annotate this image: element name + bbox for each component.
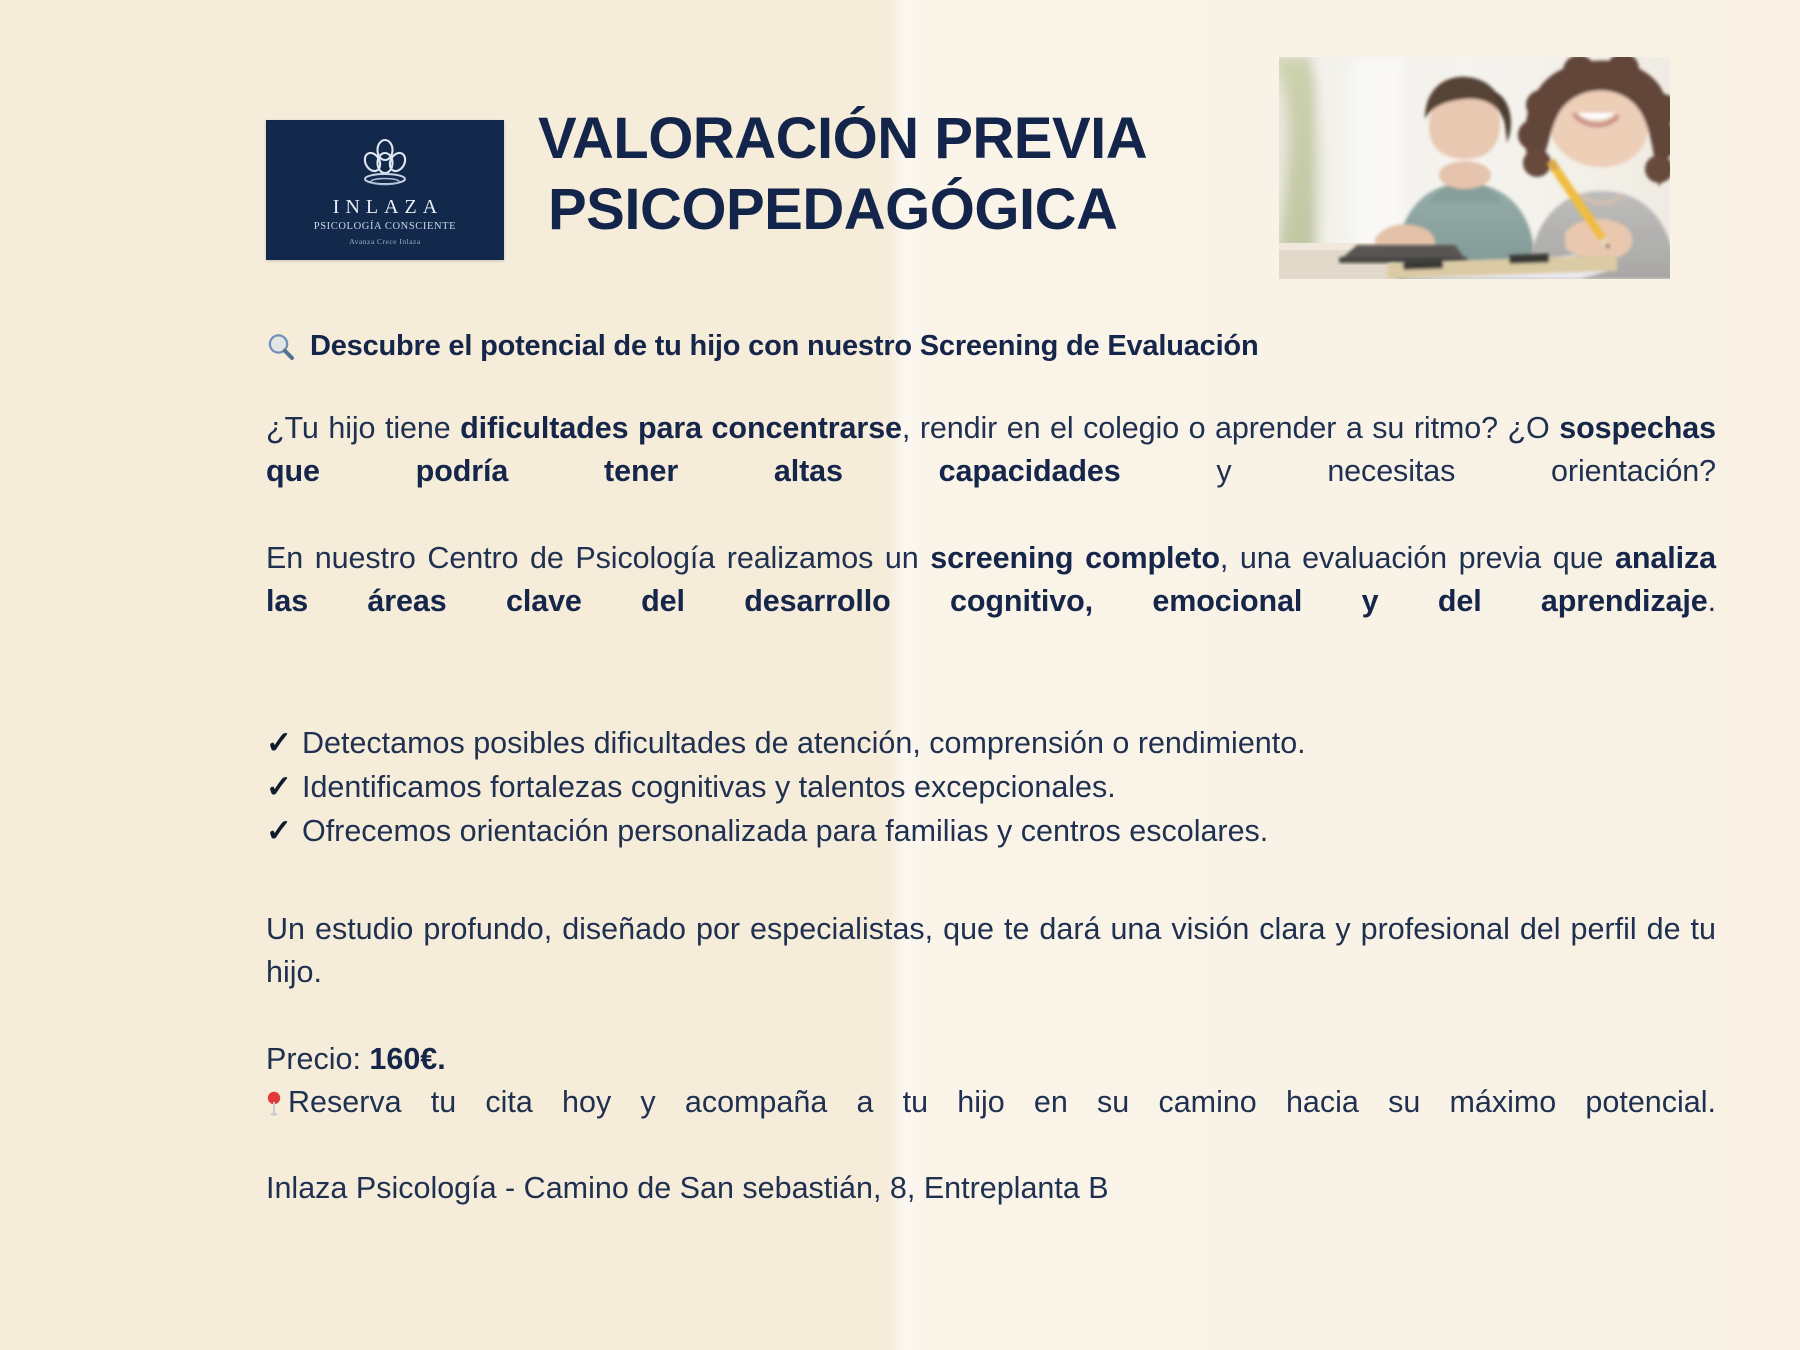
list-item-label: Ofrecemos orientación personalizada para…	[302, 810, 1268, 853]
benefits-checklist: ✓ Detectamos posibles dificultades de at…	[266, 721, 1716, 854]
magnifier-icon	[266, 332, 296, 362]
p2-seg2: , una evaluación previa que	[1220, 541, 1615, 575]
check-icon: ✓	[266, 721, 292, 765]
subheading: Descubre el potencial de tu hijo con nue…	[266, 330, 1716, 363]
list-item: ✓ Ofrecemos orientación personalizada pa…	[266, 809, 1716, 853]
p2-seg1: En nuestro Centro de Psicología realizam…	[266, 541, 930, 575]
location-pin-icon	[266, 1091, 282, 1117]
poster-canvas: INLAZA PSICOLOGÍA CONSCIENTE Avanza Crec…	[0, 0, 1800, 1350]
price-value: 160€.	[369, 1042, 445, 1076]
p2-bold1: screening completo	[930, 541, 1220, 575]
price-line: Precio: 160€.	[266, 1038, 1716, 1081]
cta-line: Reserva tu cita hoy y acompaña a tu hijo…	[266, 1081, 1716, 1168]
subheading-text: Descubre el potencial de tu hijo con nue…	[310, 330, 1258, 363]
p1-seg2: , rendir en el colegio o aprender a su r…	[902, 411, 1559, 445]
poster-body: Descubre el potencial de tu hijo con nue…	[266, 330, 1716, 1211]
logo-tagline: PSICOLOGÍA CONSCIENTE	[314, 221, 456, 233]
logo-name: INLAZA	[327, 196, 443, 218]
p1-seg3: y necesitas orientación?	[1121, 454, 1716, 488]
p1-bold1: dificultades para concentrarse	[460, 411, 902, 445]
list-item-label: Detectamos posibles dificultades de aten…	[302, 722, 1306, 765]
header-photo	[1279, 57, 1670, 279]
p2-seg3: .	[1708, 584, 1716, 618]
page-title: VALORACIÓN PREVIA PSICOPEDAGÓGICA	[530, 104, 1270, 246]
address-line: Inlaza Psicología - Camino de San sebast…	[266, 1167, 1716, 1210]
list-item: ✓ Identificamos fortalezas cognitivas y …	[266, 765, 1716, 809]
poster-header: INLAZA PSICOLOGÍA CONSCIENTE Avanza Crec…	[0, 0, 1800, 300]
p1-seg1: ¿Tu hijo tiene	[266, 411, 460, 445]
brand-logo: INLAZA PSICOLOGÍA CONSCIENTE Avanza Crec…	[266, 120, 504, 260]
closing-summary: Un estudio profundo, diseñado por especi…	[266, 908, 1716, 1038]
closing-section: Un estudio profundo, diseñado por especi…	[266, 908, 1716, 1211]
check-icon: ✓	[266, 765, 292, 809]
list-item: ✓ Detectamos posibles dificultades de at…	[266, 721, 1716, 765]
title-line-2: PSICOPEDAGÓGICA	[548, 175, 1270, 246]
price-label: Precio:	[266, 1042, 369, 1076]
intro-paragraph-2: En nuestro Centro de Psicología realizam…	[266, 537, 1716, 667]
photo-boy-and-woman-studying	[1279, 57, 1670, 279]
cta-text: Reserva tu cita hoy y acompaña a tu hijo…	[288, 1085, 1716, 1119]
lotus-flower-icon	[353, 136, 417, 194]
logo-subtext: Avanza Crece Inlaza	[349, 237, 420, 246]
intro-paragraph-1: ¿Tu hijo tiene dificultades para concent…	[266, 407, 1716, 537]
title-line-1: VALORACIÓN PREVIA	[538, 104, 1270, 175]
check-icon: ✓	[266, 809, 292, 853]
list-item-label: Identificamos fortalezas cognitivas y ta…	[302, 766, 1116, 809]
